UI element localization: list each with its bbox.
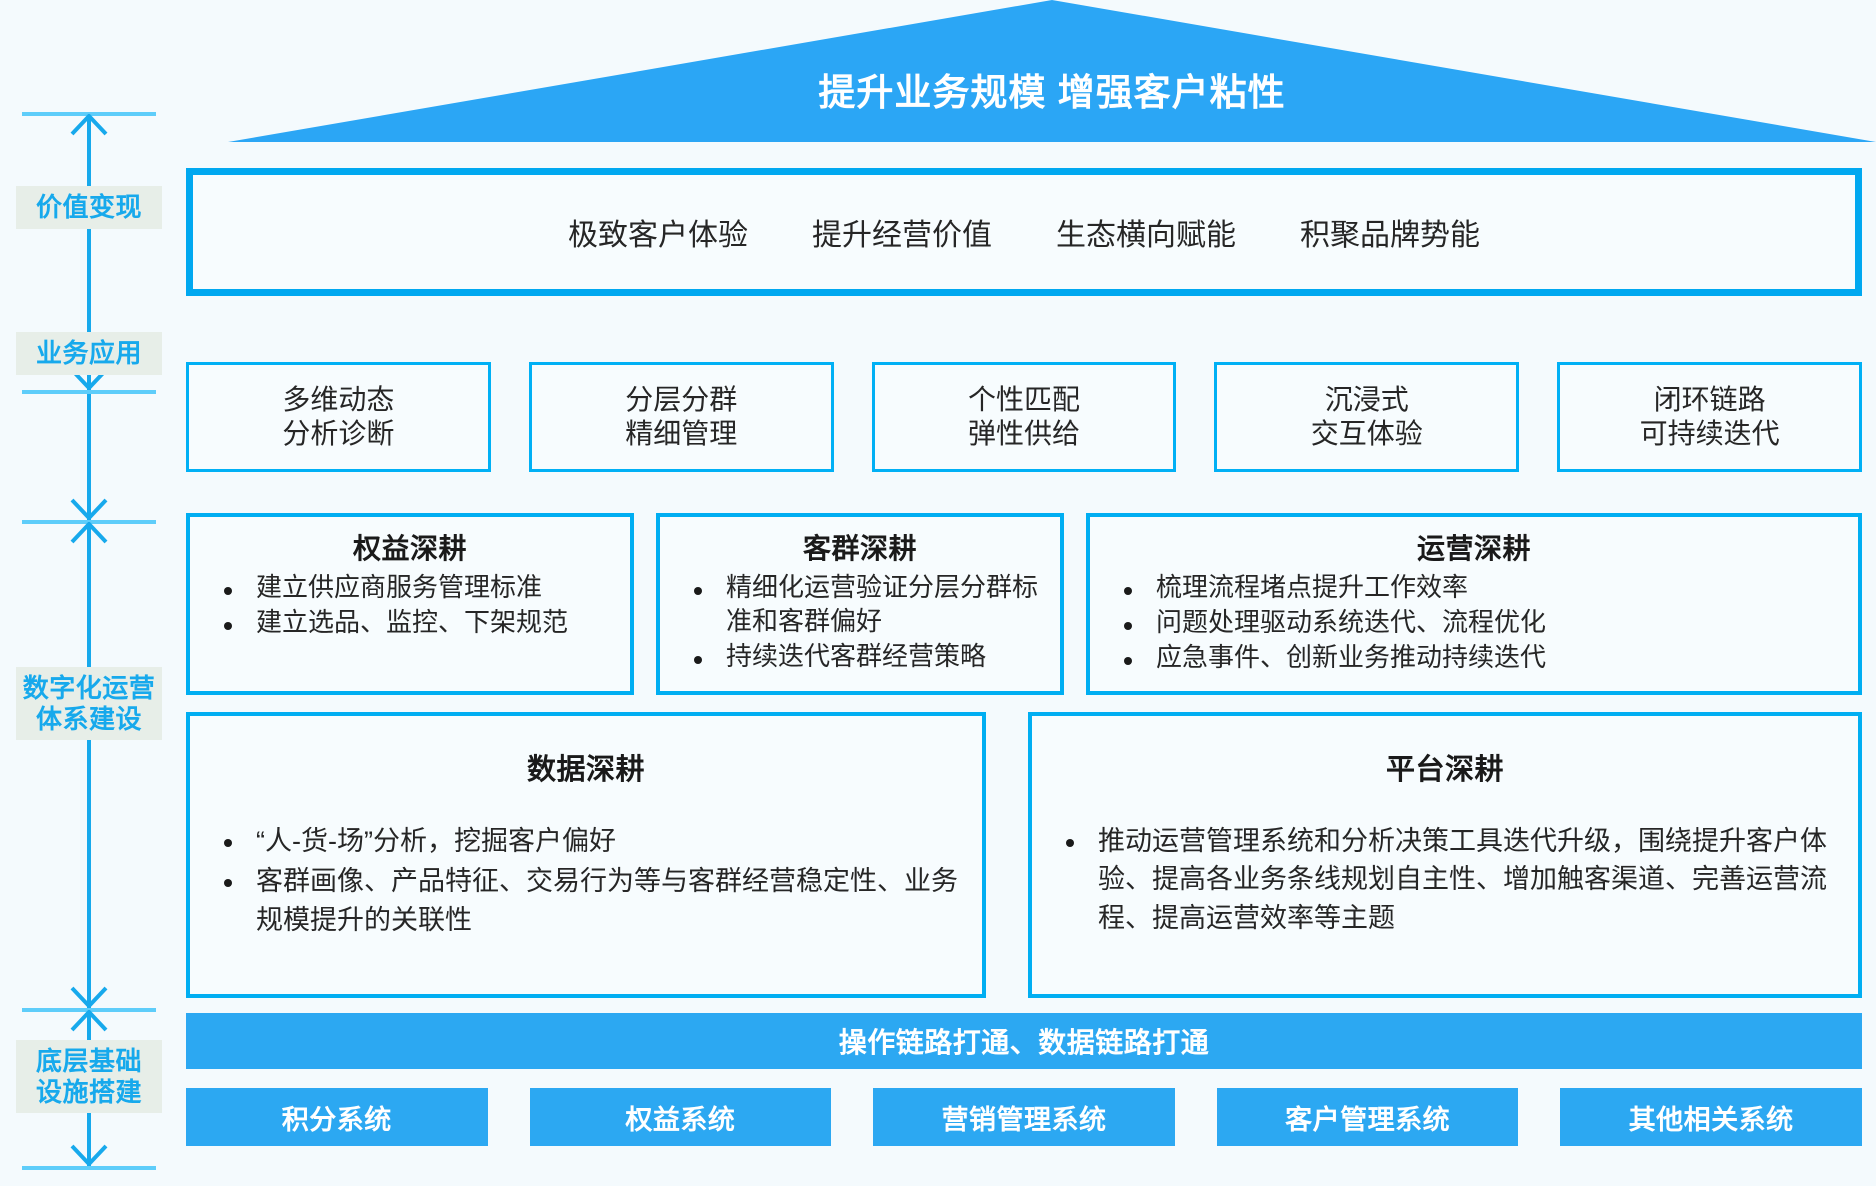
- rail-label-line2: 设施搭建: [16, 1077, 162, 1108]
- system-box-other[interactable]: 其他相关系统: [1560, 1088, 1862, 1146]
- rail-line-3: [87, 524, 91, 1008]
- system-box-rights[interactable]: 权益系统: [530, 1088, 832, 1146]
- rail-label-line1: 业务应用: [16, 338, 162, 369]
- bullet: 建立选品、监控、下架规范: [204, 606, 616, 640]
- system-box-marketing[interactable]: 营销管理系统: [873, 1088, 1175, 1146]
- business-box-2-line1: 分层分群: [625, 383, 737, 417]
- rail-tick-5: [22, 1166, 156, 1170]
- card-customer-group-title: 客群深耕: [674, 527, 1046, 567]
- business-box-1[interactable]: 多维动态 分析诊断: [186, 362, 491, 472]
- value-item-2: 提升经营价值: [812, 210, 992, 254]
- business-box-5-line2: 可持续迭代: [1640, 417, 1780, 451]
- business-box-4-line1: 沉浸式: [1325, 383, 1409, 417]
- rail-arrow-down-3: [69, 986, 109, 1008]
- card-platform-deepening[interactable]: 平台深耕 推动运营管理系统和分析决策工具迭代升级，围绕提升客户体验、提高各业务条…: [1028, 712, 1862, 998]
- value-item-4: 积聚品牌势能: [1300, 210, 1480, 254]
- rail-label-line1: 价值变现: [16, 192, 162, 223]
- infrastructure-systems-row: 积分系统 权益系统 营销管理系统 客户管理系统 其他相关系统: [186, 1088, 1862, 1146]
- rail-label-line1: 数字化运营: [16, 673, 162, 704]
- system-box-customer[interactable]: 客户管理系统: [1217, 1088, 1519, 1146]
- card-customer-group-bullets: 精细化运营验证分层分群标准和客群偏好 持续迭代客群经营策略: [674, 571, 1046, 673]
- pyramid-main-column: 极致客户体验 提升经营价值 生态横向赋能 积聚品牌势能 多维动态 分析诊断 分层…: [186, 0, 1862, 1186]
- rail-arrow-up-1: [69, 114, 109, 136]
- rail-arrow-up-2: [69, 522, 109, 544]
- card-data-title: 数据深耕: [204, 746, 968, 788]
- left-stage-rail: 价值变现 业务应用 数字化运营 体系建设 底层基础 设施搭建: [14, 112, 164, 1170]
- digital-ops-row-2: 数据深耕 “人-货-场”分析，挖掘客户偏好 客群画像、产品特征、交易行为等与客群…: [186, 712, 1862, 998]
- card-platform-bullets: 推动运营管理系统和分析决策工具迭代升级，围绕提升客户体验、提高各业务条线规划自主…: [1046, 822, 1844, 937]
- rail-label-digital-operations[interactable]: 数字化运营 体系建设: [16, 667, 162, 740]
- card-operations-title: 运营深耕: [1104, 527, 1844, 567]
- card-data-deepening[interactable]: 数据深耕 “人-货-场”分析，挖掘客户偏好 客群画像、产品特征、交易行为等与客群…: [186, 712, 986, 998]
- bullet: 应急事件、创新业务推动持续迭代: [1104, 641, 1844, 675]
- business-box-3[interactable]: 个性匹配 弹性供给: [872, 362, 1177, 472]
- bullet: “人-货-场”分析，挖掘客户偏好: [204, 822, 968, 860]
- rail-label-value-realization[interactable]: 价值变现: [16, 186, 162, 229]
- rail-arrow-down-2: [69, 498, 109, 520]
- rail-label-line2: 体系建设: [16, 704, 162, 735]
- bullet: 客群画像、产品特征、交易行为等与客群经营稳定性、业务规模提升的关联性: [204, 862, 968, 939]
- rail-label-infrastructure[interactable]: 底层基础 设施搭建: [16, 1040, 162, 1113]
- card-rights-bullets: 建立供应商服务管理标准 建立选品、监控、下架规范: [204, 571, 616, 640]
- digital-ops-row-1: 权益深耕 建立供应商服务管理标准 建立选品、监控、下架规范 客群深耕 精细化运营…: [186, 513, 1862, 695]
- business-application-row: 多维动态 分析诊断 分层分群 精细管理 个性匹配 弹性供给 沉浸式 交互体验 闭…: [186, 362, 1862, 472]
- business-box-5-line1: 闭环链路: [1654, 383, 1766, 417]
- value-realization-items: 极致客户体验 提升经营价值 生态横向赋能 积聚品牌势能: [568, 210, 1480, 254]
- business-box-2[interactable]: 分层分群 精细管理: [529, 362, 834, 472]
- infrastructure-link-bar: 操作链路打通、数据链路打通: [186, 1013, 1862, 1069]
- business-box-1-line2: 分析诊断: [282, 417, 394, 451]
- card-platform-title: 平台深耕: [1046, 746, 1844, 788]
- card-rights-deepening[interactable]: 权益深耕 建立供应商服务管理标准 建立选品、监控、下架规范: [186, 513, 634, 695]
- business-box-3-line2: 弹性供给: [968, 417, 1080, 451]
- bullet: 推动运营管理系统和分析决策工具迭代升级，围绕提升客户体验、提高各业务条线规划自主…: [1046, 822, 1844, 937]
- rail-label-line1: 底层基础: [16, 1046, 162, 1077]
- value-item-3: 生态横向赋能: [1056, 210, 1236, 254]
- rail-label-business-application[interactable]: 业务应用: [16, 332, 162, 375]
- value-item-1: 极致客户体验: [568, 210, 748, 254]
- business-box-5[interactable]: 闭环链路 可持续迭代: [1557, 362, 1862, 472]
- rail-arrow-up-3: [69, 1010, 109, 1032]
- business-box-1-line1: 多维动态: [282, 383, 394, 417]
- business-box-4-line2: 交互体验: [1311, 417, 1423, 451]
- card-customer-group-deepening[interactable]: 客群深耕 精细化运营验证分层分群标准和客群偏好 持续迭代客群经营策略: [656, 513, 1064, 695]
- bullet: 问题处理驱动系统迭代、流程优化: [1104, 606, 1844, 640]
- business-box-4[interactable]: 沉浸式 交互体验: [1214, 362, 1519, 472]
- business-box-3-line1: 个性匹配: [968, 383, 1080, 417]
- rail-arrow-down-4: [69, 1144, 109, 1166]
- bullet: 精细化运营验证分层分群标准和客群偏好: [674, 571, 1046, 639]
- card-rights-title: 权益深耕: [204, 527, 616, 567]
- card-data-bullets: “人-货-场”分析，挖掘客户偏好 客群画像、产品特征、交易行为等与客群经营稳定性…: [204, 822, 968, 939]
- system-box-points[interactable]: 积分系统: [186, 1088, 488, 1146]
- bullet: 持续迭代客群经营策略: [674, 640, 1046, 674]
- card-operations-bullets: 梳理流程堵点提升工作效率 问题处理驱动系统迭代、流程优化 应急事件、创新业务推动…: [1104, 571, 1844, 674]
- bullet: 梳理流程堵点提升工作效率: [1104, 571, 1844, 605]
- business-box-2-line2: 精细管理: [625, 417, 737, 451]
- bullet: 建立供应商服务管理标准: [204, 571, 616, 605]
- card-operations-deepening[interactable]: 运营深耕 梳理流程堵点提升工作效率 问题处理驱动系统迭代、流程优化 应急事件、创…: [1086, 513, 1862, 695]
- value-realization-box: 极致客户体验 提升经营价值 生态横向赋能 积聚品牌势能: [186, 168, 1862, 296]
